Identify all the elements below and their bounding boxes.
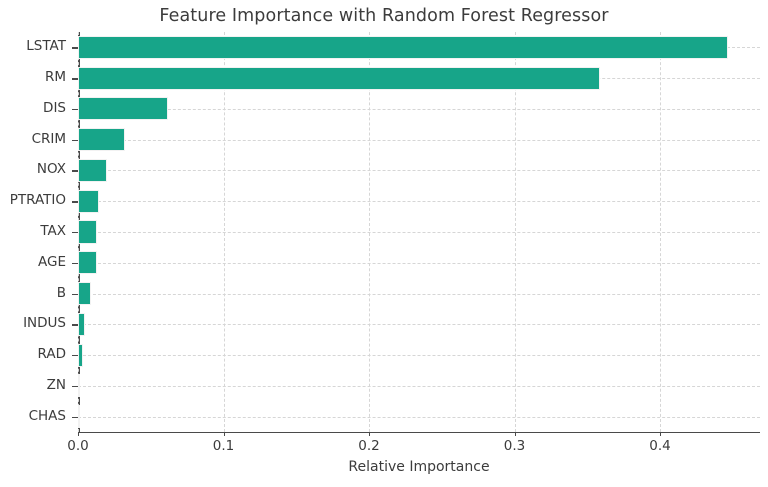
gridline-horizontal xyxy=(78,140,760,141)
bar-chas xyxy=(78,405,80,428)
y-tick-label-indus: INDUS xyxy=(0,315,66,331)
y-tick-mark xyxy=(72,386,78,387)
y-tick-mark xyxy=(72,140,78,141)
y-tick-label-zn: ZN xyxy=(0,377,66,393)
y-tick-label-rad: RAD xyxy=(0,346,66,362)
x-tick-mark xyxy=(78,432,79,436)
y-tick-label-rm: RM xyxy=(0,69,66,85)
gridline-horizontal xyxy=(78,201,760,202)
x-tick-mark xyxy=(660,432,661,436)
y-tick-label-tax: TAX xyxy=(0,223,66,239)
gridline-horizontal xyxy=(78,417,760,418)
chart-figure: Feature Importance with Random Forest Re… xyxy=(0,0,768,487)
y-tick-label-dis: DIS xyxy=(0,100,66,116)
gridline-horizontal xyxy=(78,386,760,387)
y-tick-label-crim: CRIM xyxy=(0,131,66,147)
plot-area xyxy=(78,32,760,432)
bar-indus xyxy=(78,313,85,336)
bar-age xyxy=(78,251,97,274)
bar-lstat xyxy=(78,36,728,59)
y-tick-label-nox: NOX xyxy=(0,161,66,177)
y-tick-mark xyxy=(72,263,78,264)
bar-rad xyxy=(78,344,83,367)
bar-dis xyxy=(78,97,168,120)
bar-zn xyxy=(78,374,80,397)
x-tick-label: 0.4 xyxy=(649,438,670,454)
gridline-horizontal xyxy=(78,232,760,233)
x-tick-label: 0.0 xyxy=(67,438,88,454)
x-tick-mark xyxy=(224,432,225,436)
y-tick-label-b: B xyxy=(0,285,66,301)
chart-title: Feature Importance with Random Forest Re… xyxy=(0,6,768,26)
gridline-horizontal xyxy=(78,324,760,325)
bar-crim xyxy=(78,128,125,151)
y-tick-mark xyxy=(72,294,78,295)
y-tick-mark xyxy=(72,47,78,48)
y-tick-label-lstat: LSTAT xyxy=(0,38,66,54)
y-tick-label-age: AGE xyxy=(0,254,66,270)
x-tick-mark xyxy=(515,432,516,436)
y-tick-mark xyxy=(72,170,78,171)
x-tick-label: 0.2 xyxy=(358,438,379,454)
gridline-horizontal xyxy=(78,263,760,264)
bar-rm xyxy=(78,67,600,90)
y-tick-mark xyxy=(72,417,78,418)
gridline-horizontal xyxy=(78,109,760,110)
y-tick-mark xyxy=(72,355,78,356)
gridline-horizontal xyxy=(78,355,760,356)
y-tick-mark xyxy=(72,232,78,233)
y-tick-mark xyxy=(72,201,78,202)
y-tick-label-ptratio: PTRATIO xyxy=(0,192,66,208)
y-tick-mark xyxy=(72,78,78,79)
x-tick-label: 0.1 xyxy=(213,438,234,454)
y-tick-mark xyxy=(72,324,78,325)
y-tick-mark xyxy=(72,109,78,110)
y-tick-label-chas: CHAS xyxy=(0,408,66,424)
bar-nox xyxy=(78,159,107,182)
x-tick-label: 0.3 xyxy=(504,438,525,454)
bar-ptratio xyxy=(78,190,99,213)
x-axis-label: Relative Importance xyxy=(78,459,760,475)
bar-tax xyxy=(78,220,97,243)
gridline-horizontal xyxy=(78,294,760,295)
bar-b xyxy=(78,282,91,305)
gridline-horizontal xyxy=(78,170,760,171)
x-tick-mark xyxy=(369,432,370,436)
